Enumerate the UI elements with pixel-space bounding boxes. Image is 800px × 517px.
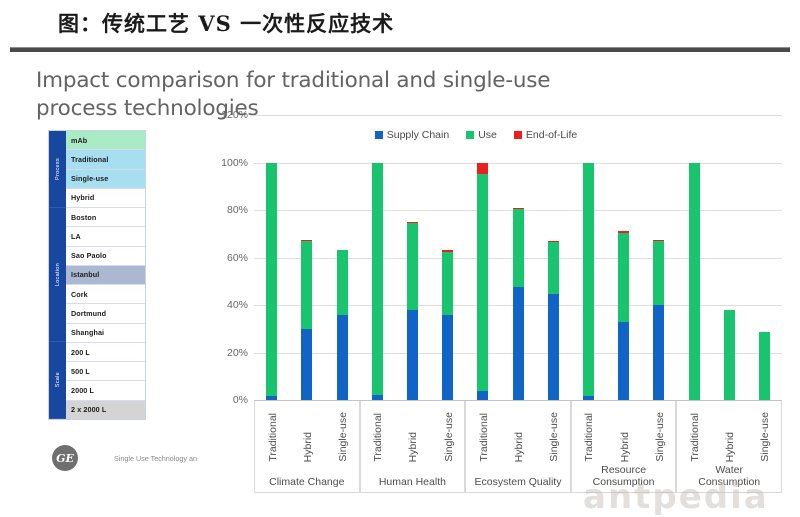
x-axis-category-label: Single-use — [337, 412, 349, 462]
x-axis-category-label: Hybrid — [407, 432, 419, 462]
bar-single-use[interactable] — [548, 241, 559, 400]
legend-item[interactable]: End-of-Life — [514, 129, 577, 141]
bar-single-use[interactable] — [337, 250, 348, 400]
page-title: 图：传统工艺 VS 一次性反应技术 — [58, 8, 394, 38]
matrix-row[interactable]: Sao Paolo — [66, 247, 145, 266]
x-axis-group-label: Human Health — [361, 476, 465, 488]
bar-segment — [548, 294, 559, 400]
x-axis-category-label: Hybrid — [302, 432, 314, 462]
matrix-row[interactable]: Traditional — [66, 150, 145, 169]
legend-label: Supply Chain — [387, 129, 449, 141]
x-axis-group: Human HealthTraditionalHybridSingle-use — [360, 401, 466, 493]
bar-segment — [372, 163, 383, 396]
bar-traditional[interactable] — [266, 163, 277, 401]
chart-legend: Supply ChainUseEnd-of-Life — [212, 129, 740, 141]
y-axis-tick-label: 100% — [221, 157, 248, 169]
x-axis-category-label: Single-use — [443, 412, 455, 462]
x-axis-group: WaterConsumptionTraditionalHybridSingle-… — [676, 401, 782, 493]
bar-hybrid[interactable] — [513, 208, 524, 400]
bar-segment — [583, 163, 594, 397]
x-axis-category-label: Traditional — [478, 413, 490, 462]
matrix-row[interactable]: 2 x 2000 L — [66, 401, 145, 419]
bar-single-use[interactable] — [442, 250, 453, 400]
bar-segment — [477, 163, 488, 175]
matrix-row[interactable]: Cork — [66, 285, 145, 304]
matrix-row[interactable]: 2000 L — [66, 381, 145, 400]
matrix-row[interactable]: mAb — [66, 131, 145, 150]
matrix-row[interactable]: Shanghai — [66, 324, 145, 343]
chart-plot-area: 0%20%40%60%80%100%120% — [254, 115, 782, 400]
gridline — [254, 115, 782, 116]
x-axis-group-label: ResourceConsumption — [572, 464, 676, 488]
legend-label: Use — [478, 129, 497, 141]
bar-segment — [442, 252, 453, 315]
x-axis-category-label: Hybrid — [513, 432, 525, 462]
bar-segment — [653, 305, 664, 400]
x-axis-group-label: Ecosystem Quality — [466, 476, 570, 488]
bar-traditional[interactable] — [583, 163, 594, 401]
legend-swatch-icon — [375, 131, 383, 139]
bar-segment — [618, 233, 629, 322]
document-heading-bar: 图：传统工艺 VS 一次性反应技术 — [0, 0, 800, 52]
matrix-row-list: mAbTraditionalSingle-useHybridBostonLASa… — [66, 131, 145, 419]
x-axis-category-label: Traditional — [267, 413, 279, 462]
bar-segment — [618, 322, 629, 400]
x-axis-group: Climate ChangeTraditionalHybridSingle-us… — [254, 401, 360, 493]
y-axis-tick-label: 0% — [233, 394, 248, 406]
x-axis-category-label: Traditional — [689, 413, 701, 462]
x-axis-category-label: Single-use — [548, 412, 560, 462]
configuration-matrix: ProcessLocationScale mAbTraditionalSingl… — [48, 130, 146, 420]
bar-segment — [477, 391, 488, 401]
legend-swatch-icon — [466, 131, 474, 139]
x-axis-group: Ecosystem QualityTraditionalHybridSingle… — [465, 401, 571, 493]
bar-hybrid[interactable] — [724, 310, 735, 400]
legend-item[interactable]: Use — [466, 129, 497, 141]
y-axis-tick-label: 120% — [221, 109, 248, 121]
bar-segment — [301, 329, 312, 400]
matrix-row[interactable]: Dortmund — [66, 304, 145, 323]
bar-segment — [337, 250, 348, 314]
y-axis-tick-label: 80% — [227, 204, 248, 216]
slide-canvas: Impact comparison for traditional and si… — [0, 53, 800, 516]
bar-hybrid[interactable] — [407, 222, 418, 400]
bar-single-use[interactable] — [759, 332, 770, 400]
x-axis-category-label: Traditional — [372, 413, 384, 462]
bar-segment — [513, 287, 524, 400]
x-axis-group: ResourceConsumptionTraditionalHybridSing… — [571, 401, 677, 493]
bar-segment — [689, 163, 700, 401]
bar-hybrid[interactable] — [618, 231, 629, 400]
matrix-group-label-scale: Scale — [49, 342, 66, 419]
x-axis-category-label: Hybrid — [619, 432, 631, 462]
bar-traditional[interactable] — [689, 163, 700, 401]
bar-segment — [301, 241, 312, 329]
bar-segment — [724, 310, 735, 400]
matrix-group-label-location: Location — [49, 208, 66, 342]
matrix-row[interactable]: 200 L — [66, 343, 145, 362]
x-axis-category-label: Single-use — [759, 412, 771, 462]
x-axis-category-label: Single-use — [654, 412, 666, 462]
gridline — [254, 163, 782, 164]
ge-logo: GE — [52, 445, 78, 471]
y-axis-tick-label: 20% — [227, 347, 248, 359]
bar-single-use[interactable] — [653, 240, 664, 400]
matrix-group-label-text: Process — [55, 158, 61, 180]
matrix-row[interactable]: Boston — [66, 208, 145, 227]
bar-segment — [407, 223, 418, 310]
legend-label: End-of-Life — [526, 129, 577, 141]
x-axis-category-label: Hybrid — [724, 432, 736, 462]
heading-divider — [10, 47, 790, 52]
footer-tagline: Single Use Technology an — [114, 454, 197, 463]
bar-traditional[interactable] — [477, 163, 488, 401]
bar-segment — [548, 242, 559, 294]
matrix-row[interactable]: Single-use — [66, 170, 145, 189]
matrix-group-label-text: Location — [55, 263, 61, 286]
x-axis-group-label: Climate Change — [255, 476, 359, 488]
legend-item[interactable]: Supply Chain — [375, 129, 449, 141]
bar-segment — [759, 332, 770, 400]
bar-hybrid[interactable] — [301, 240, 312, 400]
bar-segment — [653, 241, 664, 305]
bar-segment — [442, 315, 453, 401]
matrix-row[interactable]: Hybrid — [66, 189, 145, 208]
bar-traditional[interactable] — [372, 163, 383, 401]
bar-segment — [266, 163, 277, 397]
bar-segment — [337, 315, 348, 401]
matrix-group-label-process: Process — [49, 131, 66, 208]
x-axis-category-label: Traditional — [583, 413, 595, 462]
matrix-row[interactable]: LA — [66, 227, 145, 246]
legend-swatch-icon — [514, 131, 522, 139]
y-axis-tick-label: 60% — [227, 252, 248, 264]
matrix-row[interactable]: 500 L — [66, 362, 145, 381]
matrix-group-label-text: Scale — [55, 372, 61, 387]
matrix-group-label-column: ProcessLocationScale — [49, 131, 66, 419]
x-axis-group-label: WaterConsumption — [677, 464, 781, 488]
stacked-bar-chart: 0%20%40%60%80%100%120% Supply ChainUseEn… — [212, 108, 788, 508]
bar-segment — [477, 174, 488, 390]
bar-segment — [407, 310, 418, 400]
matrix-row[interactable]: Istanbul — [66, 266, 145, 285]
y-axis-tick-label: 40% — [227, 299, 248, 311]
bar-segment — [513, 209, 524, 287]
